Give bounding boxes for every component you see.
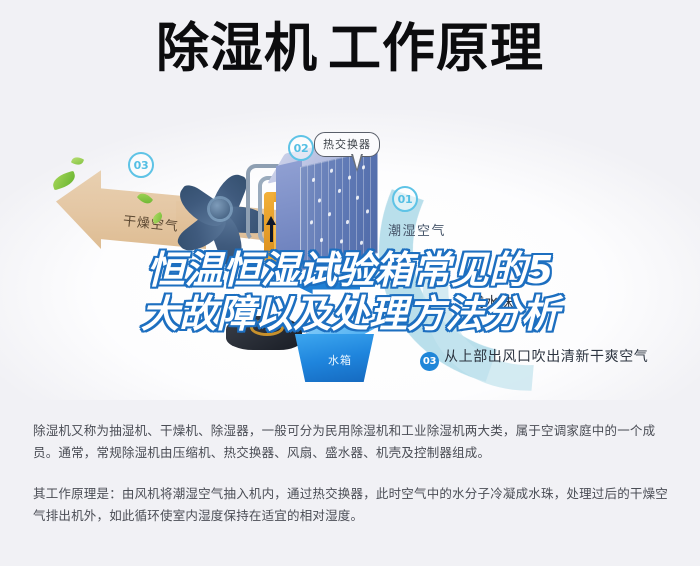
water-tank-label: 水箱	[328, 352, 352, 368]
step-badge-03: 03	[128, 152, 154, 178]
heat-exchanger-side	[276, 160, 302, 270]
flow-arrow-up-icon	[266, 216, 276, 225]
callout-pointer	[351, 154, 363, 172]
flow-arrow-stem	[270, 224, 273, 242]
body-copy: 除湿机又称为抽湿机、干燥机、除湿器，一般可分为民用除湿机和工业除湿机两大类，属于…	[33, 420, 673, 546]
heat-exchanger-callout: 热交换器	[314, 132, 380, 157]
fan-hub	[210, 199, 230, 219]
infographic-page: 除湿机工作原理 干燥空气	[0, 0, 700, 566]
heat-exchanger	[300, 149, 378, 271]
step-note-03-badge: 03	[420, 352, 439, 371]
body-paragraph-1: 除湿机又称为抽湿机、干燥机、除湿器，一般可分为民用除湿机和工业除湿机两大类，属于…	[33, 420, 673, 464]
step-note-03-text: 从上部出风口吹出清新干爽空气	[444, 349, 648, 365]
humid-air-label: 潮湿空气	[388, 220, 446, 239]
page-title: 除湿机工作原理	[0, 22, 700, 75]
step-note-03: 03从上部出风口吹出清新干爽空气	[420, 346, 648, 371]
water-tank: 水箱	[288, 324, 374, 382]
page-title-primary: 除湿机	[156, 18, 318, 79]
page-title-secondary: 工作原理	[328, 18, 544, 79]
body-paragraph-2: 其工作原理是：由风机将潮湿空气抽入机内，通过热交换器，此时空气中的水分子冷凝成水…	[33, 483, 673, 527]
step-badge-02: 02	[288, 135, 314, 161]
dehumidifier-diagram: 干燥空气	[0, 110, 700, 400]
step-note-02: 成水珠	[470, 292, 514, 312]
condensation-droplets	[300, 149, 378, 271]
step-badge-01: 01	[392, 186, 418, 212]
